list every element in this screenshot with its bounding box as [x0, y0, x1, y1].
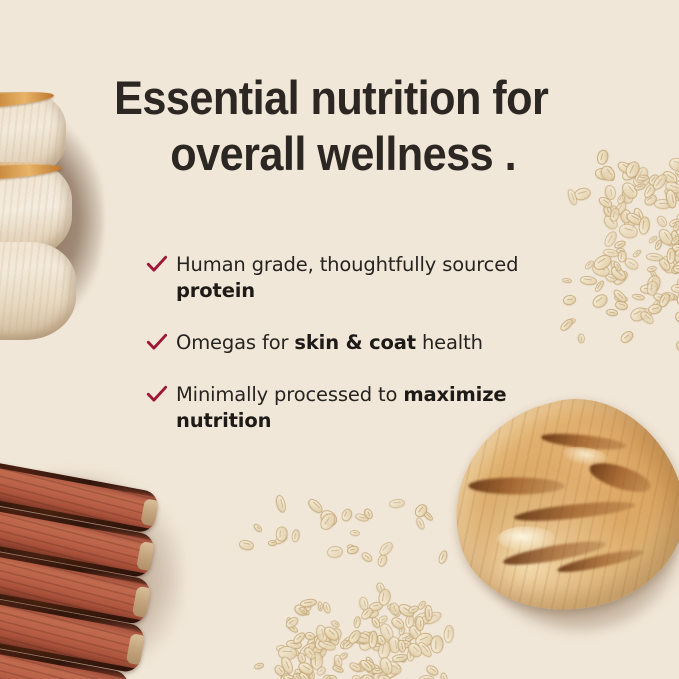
oat-flake — [675, 340, 679, 352]
oat-flake — [578, 334, 586, 345]
benefit-item: Human grade, thoughtfully sourced protei… — [146, 252, 576, 304]
benefit-text: Omegas for skin & coat health — [176, 330, 483, 356]
oat-flake — [647, 264, 658, 272]
oat-flake — [239, 538, 255, 551]
oat-flake — [654, 214, 668, 229]
oat-flake — [440, 672, 449, 679]
oat-flake — [598, 163, 618, 183]
promo-banner: Essential nutrition for overall wellness… — [0, 0, 679, 679]
oat-flake — [595, 149, 609, 166]
oat-flake — [590, 292, 610, 311]
oat-flake — [291, 529, 300, 543]
oat-flake — [327, 545, 344, 558]
oat-flake — [358, 595, 369, 610]
oat-flake — [338, 651, 349, 661]
steak-photo — [0, 446, 190, 679]
oat-flake — [331, 664, 345, 675]
oat-flake — [414, 516, 426, 531]
oats-photo-bottom-center — [236, 498, 448, 679]
oat-flake — [254, 661, 265, 669]
oat-flake — [414, 616, 424, 631]
oat-flake — [424, 604, 432, 620]
oat-flake — [252, 522, 263, 533]
oat-flake — [274, 494, 287, 513]
oat-flake — [431, 635, 444, 653]
oat-flake — [268, 540, 277, 546]
oat-flake — [360, 550, 374, 564]
benefit-text: Minimally processed to maximize nutritio… — [176, 382, 568, 434]
headline-line-1: Essential nutrition for — [27, 70, 652, 126]
benefit-item: Omegas for skin & coat health — [146, 330, 576, 356]
oat-flake — [339, 507, 353, 523]
oat-flake — [618, 329, 635, 346]
oat-flake — [389, 498, 406, 509]
oat-flake — [346, 545, 359, 556]
benefits-list: Human grade, thoughtfully sourced protei… — [146, 252, 576, 434]
oat-flake — [321, 601, 332, 614]
benefit-item: Minimally processed to maximize nutritio… — [146, 382, 576, 434]
oat-flake — [673, 309, 679, 327]
check-icon — [146, 332, 176, 358]
roast-breast-photo — [0, 92, 110, 342]
oat-flake — [392, 653, 409, 664]
oat-flake — [304, 630, 315, 640]
oat-flake — [673, 264, 679, 273]
benefit-text: Human grade, thoughtfully sourced protei… — [176, 252, 568, 304]
oat-flake — [353, 616, 361, 629]
check-icon — [146, 254, 176, 280]
oat-flake — [632, 248, 643, 258]
check-icon — [146, 384, 176, 410]
oat-flake — [606, 308, 619, 317]
oat-flake — [631, 292, 645, 301]
oat-flake — [350, 530, 360, 537]
oat-flake — [352, 674, 362, 679]
oat-flake — [579, 275, 596, 286]
